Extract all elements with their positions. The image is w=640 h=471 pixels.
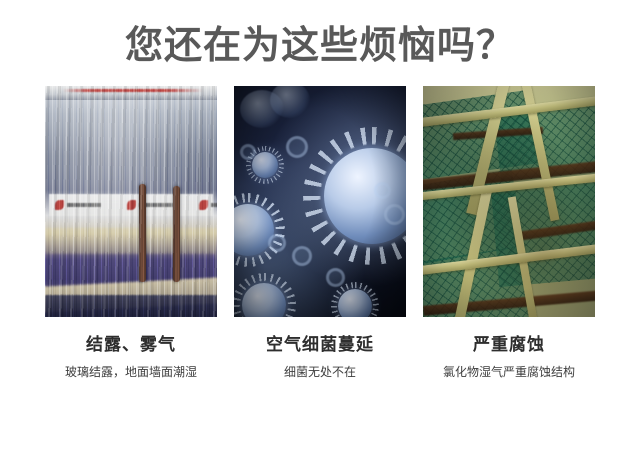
photo-vignette <box>423 86 595 317</box>
condensation-on-glass-photo <box>45 86 217 317</box>
caption-subtitle: 氯化物湿气严重腐蚀结构 <box>423 364 595 380</box>
caption-title: 空气细菌蔓延 <box>234 334 406 356</box>
caption-subtitle: 玻璃结露，地面墙面潮湿 <box>45 364 217 380</box>
promo-page: 您还在为这些烦恼吗？ <box>0 0 640 471</box>
photo-vignette <box>234 86 406 317</box>
page-title-wrap: 您还在为这些烦恼吗？ <box>0 0 640 68</box>
airborne-bacteria-photo <box>234 86 406 317</box>
page-title: 您还在为这些烦恼吗？ <box>125 22 515 68</box>
water-streaks-layer <box>45 86 217 317</box>
problem-panel-corrosion: 严重腐蚀 氯化物湿气严重腐蚀结构 <box>423 86 595 380</box>
corroded-structure-photo <box>423 86 595 317</box>
problem-panel-bacteria: 空气细菌蔓延 细菌无处不在 <box>234 86 406 380</box>
problem-panel-condensation: 结露、雾气 玻璃结露，地面墙面潮湿 <box>45 86 217 380</box>
panel-caption: 结露、雾气 玻璃结露，地面墙面潮湿 <box>45 334 217 380</box>
panel-caption: 严重腐蚀 氯化物湿气严重腐蚀结构 <box>423 334 595 380</box>
caption-title: 结露、雾气 <box>45 334 217 356</box>
problem-panels: 结露、雾气 玻璃结露，地面墙面潮湿 <box>0 86 640 380</box>
panel-caption: 空气细菌蔓延 细菌无处不在 <box>234 334 406 380</box>
caption-subtitle: 细菌无处不在 <box>234 364 406 380</box>
caption-title: 严重腐蚀 <box>423 334 595 356</box>
